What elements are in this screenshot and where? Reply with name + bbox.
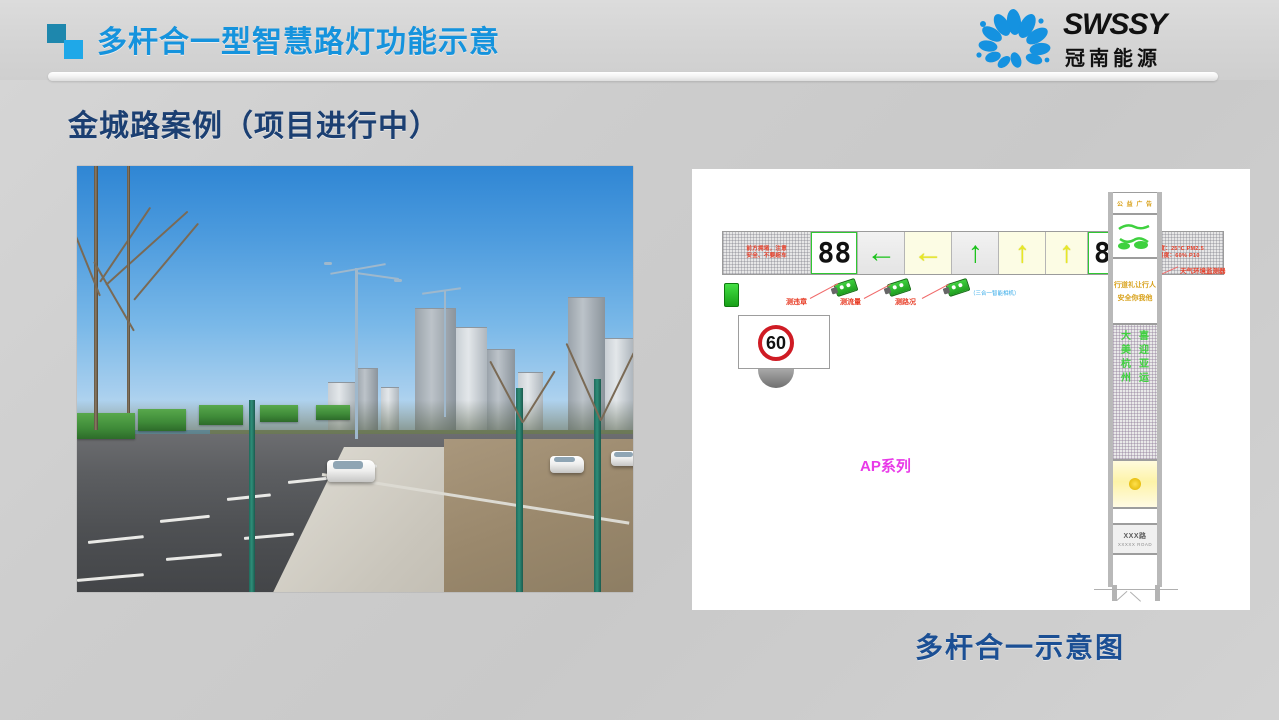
arrow-up-icon: ↑ bbox=[968, 238, 983, 268]
gantry-arrow-left-green: ← bbox=[858, 232, 905, 274]
camera-icon bbox=[946, 278, 971, 297]
arrow-up-icon: ↑ bbox=[1015, 238, 1030, 268]
led-column-left: 大 美 杭 州 bbox=[1121, 331, 1131, 453]
camera-icon bbox=[887, 278, 912, 297]
slide-header: 多杆合一型智慧路灯功能示意 bbox=[0, 0, 1279, 80]
ground-line bbox=[1094, 589, 1178, 591]
pole-street-name-plate: XXX路 XXXXX ROAD bbox=[1113, 524, 1157, 554]
pole-public-ad-panel bbox=[1113, 214, 1157, 258]
camera-icon bbox=[834, 278, 859, 297]
camera-label-violation: 测违章 bbox=[786, 297, 807, 307]
square-light-icon bbox=[64, 40, 83, 59]
countdown-digits: 88 bbox=[818, 239, 852, 267]
tree-trunk-painted bbox=[249, 400, 255, 592]
header-divider bbox=[48, 72, 1218, 81]
gantry-arrow-up-yellow-1: ↑ bbox=[999, 232, 1046, 274]
truck bbox=[138, 409, 186, 431]
car bbox=[327, 460, 375, 482]
truck bbox=[316, 405, 350, 420]
logo-chinese-name: 冠南能源 bbox=[1065, 42, 1161, 71]
led-line: 安全、不要超车 bbox=[746, 253, 787, 260]
pole-lightbox bbox=[1113, 460, 1157, 508]
section-subtitle: 金城路案例（项目进行中） bbox=[68, 101, 440, 145]
roadside-soil bbox=[444, 439, 633, 592]
pole-blank-segment bbox=[1113, 508, 1157, 524]
pole-courtesy-sign: 行道礼让行人 安全你我他 bbox=[1113, 258, 1157, 324]
gantry-arrow-up-yellow-2: ↑ bbox=[1046, 232, 1088, 274]
arrow-left-icon: ← bbox=[866, 238, 896, 268]
truck bbox=[77, 413, 135, 439]
gantry-led-message-left: 前方拥堵，注意 安全、不要超车 bbox=[723, 232, 811, 274]
car bbox=[611, 451, 633, 466]
logo-droplet-icon bbox=[971, 8, 1057, 70]
camera-note: （三合一智能相机） bbox=[970, 289, 1020, 297]
truck bbox=[199, 405, 243, 425]
speed-limit-sign: 60 bbox=[758, 325, 794, 361]
arrow-left-icon: ← bbox=[913, 238, 943, 268]
smart-pole: 公 益 广 告 行道礼让行人 安全你我他 大 美 杭 州 喜 迎 bbox=[1108, 192, 1162, 587]
streetlight-pole bbox=[355, 268, 358, 438]
gantry-arrow-up-green: ↑ bbox=[952, 232, 999, 274]
pole-base bbox=[1110, 583, 1162, 601]
dome-camera-icon bbox=[758, 369, 794, 388]
page-title: 多杆合一型智慧路灯功能示意 bbox=[97, 17, 500, 61]
pole-sign-title: 公 益 广 告 bbox=[1113, 192, 1157, 214]
streetlight-lamp bbox=[324, 262, 332, 265]
tree-trunk bbox=[127, 166, 130, 413]
gantry-countdown-left: 88 bbox=[811, 232, 858, 274]
truck bbox=[260, 405, 298, 422]
company-logo: SWSSY 冠南能源 bbox=[971, 6, 1221, 72]
led-line: 前方拥堵，注意 bbox=[746, 246, 787, 253]
led-column-right: 喜 迎 亚 运 bbox=[1139, 331, 1149, 453]
header-marker-squares bbox=[47, 24, 87, 58]
ap-series-label: AP系列 bbox=[860, 455, 911, 476]
pole-vertical-led-screen: 大 美 杭 州 喜 迎 亚 运 bbox=[1113, 324, 1157, 460]
tree-trunk bbox=[94, 166, 98, 430]
arrow-up-icon: ↑ bbox=[1059, 238, 1074, 268]
car bbox=[550, 456, 584, 473]
streetlight-lamp bbox=[394, 279, 402, 282]
logo-wordmark: SWSSY bbox=[1063, 8, 1166, 42]
camera-label-flow: 测流量 bbox=[840, 297, 861, 307]
pole-schematic-panel: 前方拥堵，注意 安全、不要超车 88 ← ← ↑ ↑ ↑ 88 温度：25℃ P… bbox=[692, 169, 1250, 610]
weather-sensor-label: 天气环境监测器 bbox=[1180, 265, 1226, 275]
gantry-arrow-left-yellow: ← bbox=[905, 232, 952, 274]
camera-label-condition: 测路况 bbox=[895, 297, 916, 307]
street-photo bbox=[77, 166, 633, 592]
diagram-caption: 多杆合一示意图 bbox=[915, 626, 1125, 666]
streetlight-pole bbox=[444, 290, 446, 418]
weather-sensor-icon bbox=[724, 283, 739, 307]
